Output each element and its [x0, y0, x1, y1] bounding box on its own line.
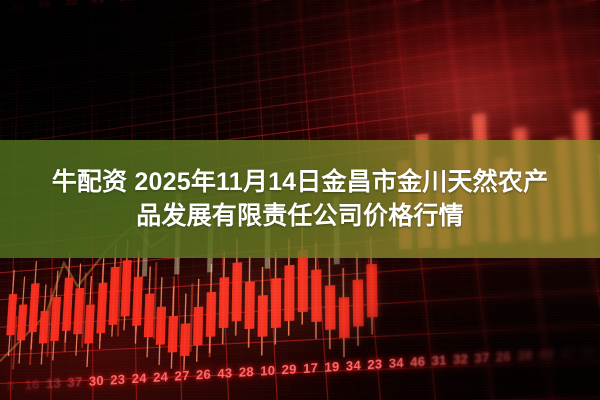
axis-tick-label: 17 [300, 360, 321, 376]
axis-tick-label: 13 [43, 375, 64, 391]
axis-tick-label: 26 [493, 348, 514, 364]
axis-tick-label: 35 [578, 343, 599, 359]
axis-tick-label: 30 [86, 373, 107, 389]
axis-tick-label: 24 [150, 369, 171, 385]
axis-tick-label: 10 [257, 362, 278, 378]
axis-tick-label: 20 [4, 1, 31, 14]
axis-tick-label: 46 [407, 354, 428, 370]
axis-tick-label: 27 [139, 0, 166, 1]
caption-line-1: 牛配资 2025年11月14日金昌市金川天然农产 [52, 167, 549, 198]
caption-line-2: 品发展有限责任公司价格行情 [136, 201, 464, 232]
axis-tick-label: 16 [21, 376, 42, 392]
axis-tick-label: 34 [386, 355, 407, 371]
axis-tick-label: 42 [557, 345, 578, 361]
axis-tick-label: 26 [193, 366, 214, 382]
caption-band: 牛配资 2025年11月14日金昌市金川天然农产 品发展有限责任公司价格行情 [0, 140, 600, 258]
axis-tick-label: 28 [236, 364, 257, 380]
banner-image: 2030322130274633412835302419222631443729… [0, 0, 600, 400]
axis-tick-label: 27 [171, 368, 192, 384]
axis-tick-label: 21 [85, 0, 112, 6]
axis-tick-label: 24 [129, 370, 150, 386]
axis-tick-label: 8 [0, 378, 21, 394]
axis-tick-label: 19 [321, 359, 342, 375]
axis-tick-label: 30 [31, 0, 58, 12]
axis-tick-label: 32 [58, 0, 85, 9]
axis-tick-label: 37 [64, 374, 85, 390]
axis-tick-label: 37 [471, 350, 492, 366]
axis-tick-label: 31 [428, 352, 449, 368]
chart-axis-bottom: 8161337302324242726432810291719342334463… [0, 343, 600, 394]
axis-tick-label: 38 [514, 347, 535, 363]
axis-tick-label: 30 [112, 0, 139, 4]
axis-tick-label: 29 [278, 361, 299, 377]
axis-tick-label: 23 [364, 356, 385, 372]
axis-tick-label: 32 [450, 351, 471, 367]
axis-tick-label: 34 [343, 357, 364, 373]
axis-tick-label: 23 [107, 371, 128, 387]
axis-tick-label: 43 [214, 365, 235, 381]
chart-axis-top: 2030322130274633412835302419222631443729 [4, 0, 600, 14]
axis-tick-label: 40 [536, 346, 557, 362]
